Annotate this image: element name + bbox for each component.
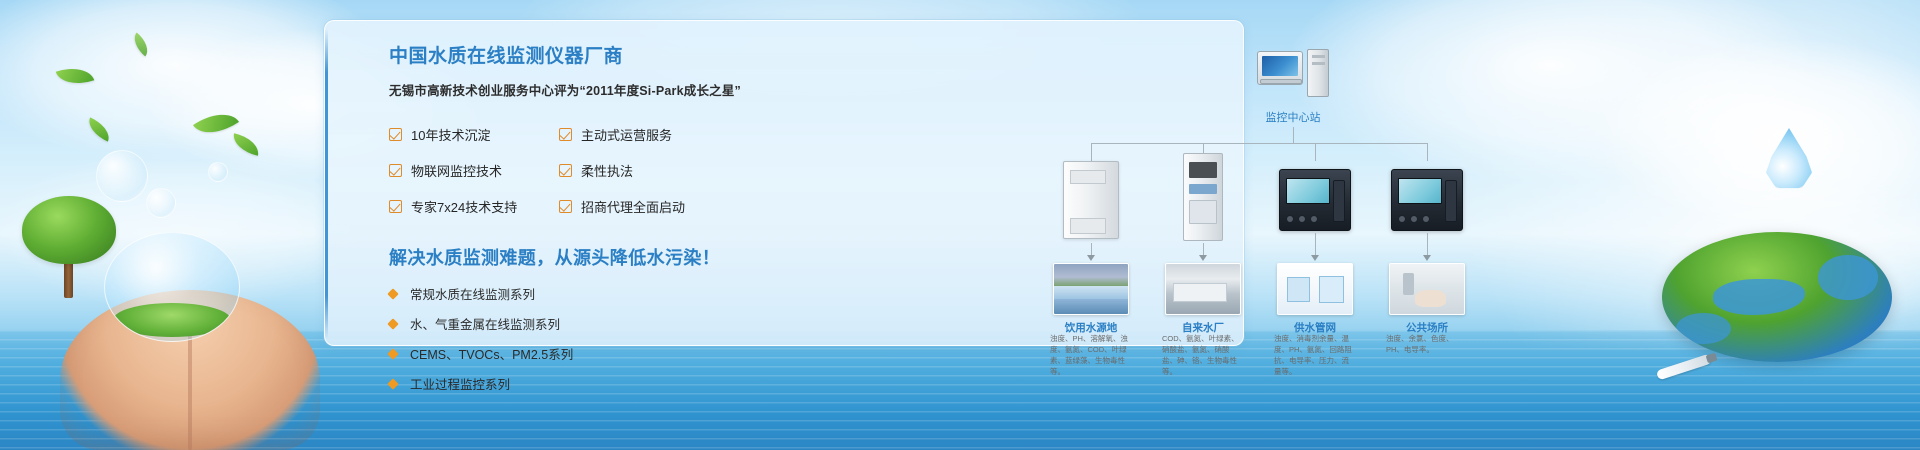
earth-globe-illustration <box>1662 232 1892 362</box>
device-panel <box>1189 200 1217 224</box>
device-screen <box>1398 178 1442 204</box>
node-description: 浊度、PH、溶解氧、浊度、氨氮、COD、叶绿素、蓝绿藻、生物毒性等。 <box>1050 334 1132 378</box>
connector-line <box>1091 143 1092 161</box>
diamond-bullet-icon <box>387 378 398 389</box>
diamond-bullet-icon <box>387 348 398 359</box>
connector-line <box>1315 233 1316 257</box>
arrow-down-icon <box>1199 255 1207 261</box>
feature-label: 物联网监控技术 <box>411 161 502 180</box>
scene-photo-drinking-water-source <box>1053 263 1129 315</box>
promo-panel: 中国水质在线监测仪器厂商 无锡市高新技术创业服务中心评为“2011年度Si-Pa… <box>324 20 1244 346</box>
arrow-down-icon <box>1423 255 1431 261</box>
device-buttons <box>1286 215 1318 223</box>
water-drop-icon <box>1766 128 1812 190</box>
node-description: COD、氨氮、叶绿素、硝酸盐、氨氮、硝酸盐、砷、铬、生物毒性等。 <box>1162 334 1244 378</box>
globe-sea <box>1713 279 1805 315</box>
device-body <box>1391 169 1463 231</box>
checkbox-checked-icon <box>389 128 402 141</box>
feature-label: 主动式运营服务 <box>581 125 672 144</box>
feature-label: 招商代理全面启动 <box>581 197 685 216</box>
feature-item: 专家7x24技术支持 <box>389 197 559 216</box>
device-body <box>1063 161 1119 239</box>
series-label: 水、气重金属在线监测系列 <box>410 314 560 333</box>
device-panel <box>1189 184 1217 194</box>
globe-sea <box>1818 255 1878 299</box>
node-caption: 饮用水源地 <box>1045 320 1137 335</box>
list-item: CEMS、TVOCs、PM2.5系列 <box>389 344 719 363</box>
feature-item: 柔性执法 <box>559 161 729 180</box>
system-topology-diagram: 监控中心站 <box>1025 31 1485 347</box>
arrow-down-icon <box>1087 255 1095 261</box>
node-caption: 自来水厂 <box>1157 320 1249 335</box>
connector-line <box>1427 233 1428 257</box>
node-caption: 公共场所 <box>1381 320 1473 335</box>
feature-item: 10年技术沉淀 <box>389 125 559 144</box>
globe-sea <box>1676 313 1731 344</box>
series-label: 工业过程监控系列 <box>410 374 510 393</box>
checkbox-checked-icon <box>389 164 402 177</box>
leaf-icon <box>128 32 153 56</box>
device-side-panel <box>1445 180 1457 222</box>
diamond-bullet-icon <box>387 318 398 329</box>
water-globe-illustration <box>104 232 240 342</box>
monitor-icon <box>1257 51 1303 85</box>
node-description: 浊度、余氯、色度、PH、电导率。 <box>1386 334 1468 356</box>
globe-ground <box>113 303 231 337</box>
checkbox-checked-icon <box>389 200 402 213</box>
checkbox-checked-icon <box>559 128 572 141</box>
scene-photo-public-place <box>1389 263 1465 315</box>
bubble-decoration <box>146 188 176 218</box>
monitor-screen <box>1262 56 1298 76</box>
tree-crown <box>22 196 116 264</box>
pc-tower-icon <box>1307 49 1329 97</box>
list-item: 工业过程监控系列 <box>389 374 719 393</box>
feature-label: 10年技术沉淀 <box>411 125 490 144</box>
connector-line <box>1293 127 1294 143</box>
node-description: 浊度、消毒剂余量、温度、PH、氨氮、回路阻抗、电导率、压力、流量等。 <box>1274 334 1356 378</box>
feature-label: 专家7x24技术支持 <box>411 197 517 216</box>
bubble-decoration <box>208 162 228 182</box>
device-body <box>1279 169 1351 231</box>
monitor-base <box>1260 79 1302 84</box>
cloud-decoration <box>1600 40 1920 230</box>
leaf-icon <box>56 61 95 91</box>
series-label: CEMS、TVOCs、PM2.5系列 <box>410 344 573 363</box>
feature-item: 主动式运营服务 <box>559 125 729 144</box>
panel-left-column: 中国水质在线监测仪器厂商 无锡市高新技术创业服务中心评为“2011年度Si-Pa… <box>389 41 719 404</box>
panel-accent-bar <box>325 29 328 339</box>
device-side-panel <box>1333 180 1345 222</box>
device-body <box>1183 153 1223 241</box>
list-item: 常规水质在线监测系列 <box>389 284 719 303</box>
connector-line <box>1091 143 1427 144</box>
feature-checklist: 10年技术沉淀 主动式运营服务 物联网监控技术 柔性执法 专家7x24技术支持 … <box>389 125 719 216</box>
node-caption: 供水管网 <box>1269 320 1361 335</box>
page-subtitle: 无锡市高新技术创业服务中心评为“2011年度Si-Park成长之星” <box>389 80 719 99</box>
checkbox-checked-icon <box>559 164 572 177</box>
device-panel <box>1189 162 1217 178</box>
leaf-icon <box>84 117 114 141</box>
list-item: 水、气重金属在线监测系列 <box>389 314 719 333</box>
center-node-label: 监控中心站 <box>1223 109 1363 125</box>
section-title: 解决水质监测难题，从源头降低水污染！ <box>389 244 719 270</box>
connector-line <box>1315 143 1316 161</box>
checkbox-checked-icon <box>559 200 572 213</box>
feature-item: 招商代理全面启动 <box>559 197 729 216</box>
connector-line <box>1427 143 1428 161</box>
feature-label: 柔性执法 <box>581 161 633 180</box>
leaf-icon <box>231 133 262 155</box>
scene-photo-supply-network <box>1277 263 1353 315</box>
scene-photo-waterworks <box>1165 263 1241 315</box>
arrow-down-icon <box>1311 255 1319 261</box>
monitoring-center-computer-icon <box>1257 49 1333 101</box>
product-series-list: 常规水质在线监测系列 水、气重金属在线监测系列 CEMS、TVOCs、PM2.5… <box>389 284 719 393</box>
device-screen <box>1286 178 1330 204</box>
device-buttons <box>1398 215 1430 223</box>
diamond-bullet-icon <box>387 288 398 299</box>
series-label: 常规水质在线监测系列 <box>410 284 535 303</box>
feature-item: 物联网监控技术 <box>389 161 559 180</box>
leaf-icon <box>193 103 239 144</box>
bubble-decoration <box>96 150 148 202</box>
page-title: 中国水质在线监测仪器厂商 <box>389 41 719 68</box>
